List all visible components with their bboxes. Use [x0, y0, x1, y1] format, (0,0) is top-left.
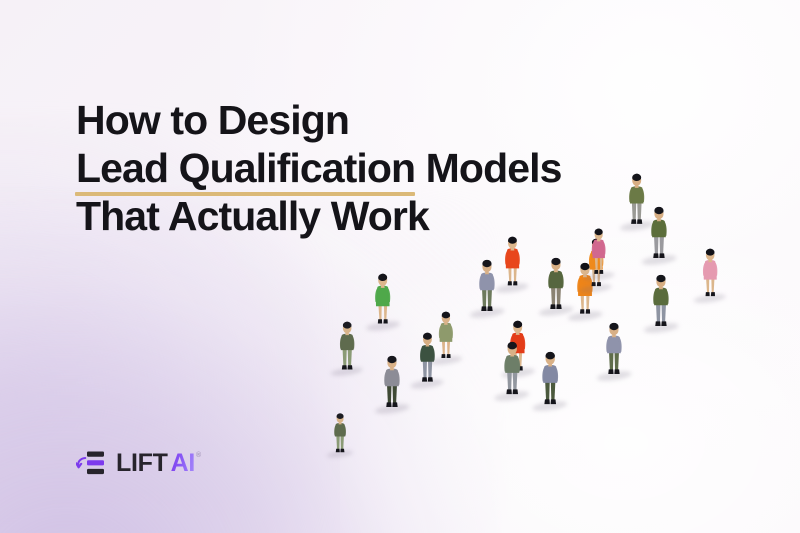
banner-canvas: How to Design Lead Qualification Models …	[0, 0, 800, 533]
figure-olive-man-mid	[544, 256, 568, 313]
figure-olive-right-lower	[649, 273, 673, 330]
lift-ai-wordmark: LIFT AI ®	[116, 451, 201, 476]
figure-olive-standing-left	[336, 320, 358, 373]
lift-ai-bars-arrow-icon	[76, 450, 107, 476]
figure-pink-yellow-woman	[699, 247, 721, 300]
figure-periwinkle-man	[475, 258, 499, 315]
headline-line-2: Lead Qualification Models	[76, 144, 716, 192]
headline-block: How to Design Lead Qualification Models …	[76, 96, 716, 240]
figure-gray-suit-front	[380, 354, 404, 411]
figure-bluegray-front	[538, 350, 562, 408]
headline-line-2-rest: Models	[415, 145, 561, 191]
figure-green-dress-woman	[371, 272, 394, 328]
headline-line-1: How to Design	[76, 96, 716, 144]
figure-olive-woman-skirt	[435, 310, 457, 362]
logo-word-lift: LIFT	[116, 451, 168, 476]
lift-ai-logo[interactable]: LIFT AI ®	[76, 450, 201, 476]
logo-word-ai: AI	[171, 451, 195, 476]
figure-periwinkle-lower-right	[602, 321, 626, 378]
figure-red-dress-top	[501, 235, 524, 290]
headline-underlined-phrase: Lead Qualification	[76, 144, 415, 192]
headline-line-3: That Actually Work	[76, 192, 716, 240]
figure-olive-bottom-edge	[331, 412, 349, 455]
figure-sage-green-front	[500, 340, 524, 398]
registered-trademark-icon: ®	[196, 452, 201, 459]
